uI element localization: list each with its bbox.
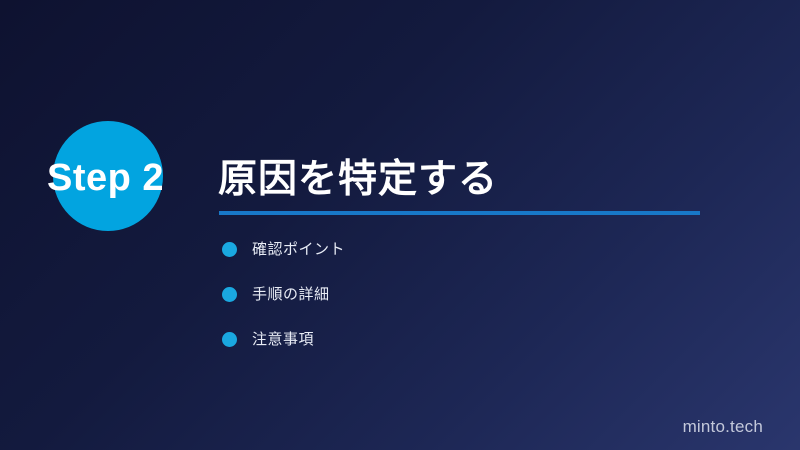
step-badge-label: Step 2: [47, 155, 247, 201]
bullet-label: 注意事項: [252, 328, 314, 349]
slide-canvas: Step 2 原因を特定する 確認ポイント 手順の詳細 注意事項 minto.t…: [0, 0, 800, 450]
bullet-dot-icon: [222, 242, 237, 257]
bullet-dot-icon: [222, 287, 237, 302]
footer-watermark: minto.tech: [683, 417, 763, 437]
bullet-label: 確認ポイント: [252, 238, 345, 259]
list-item: 確認ポイント: [219, 234, 699, 279]
bullet-list: 確認ポイント 手順の詳細 注意事項: [219, 234, 699, 369]
list-item: 注意事項: [219, 324, 699, 369]
title-divider: [219, 211, 700, 215]
bullet-dot-icon: [222, 332, 237, 347]
bullet-label: 手順の詳細: [252, 283, 330, 304]
slide-title: 原因を特定する: [218, 148, 498, 204]
list-item: 手順の詳細: [219, 279, 699, 324]
